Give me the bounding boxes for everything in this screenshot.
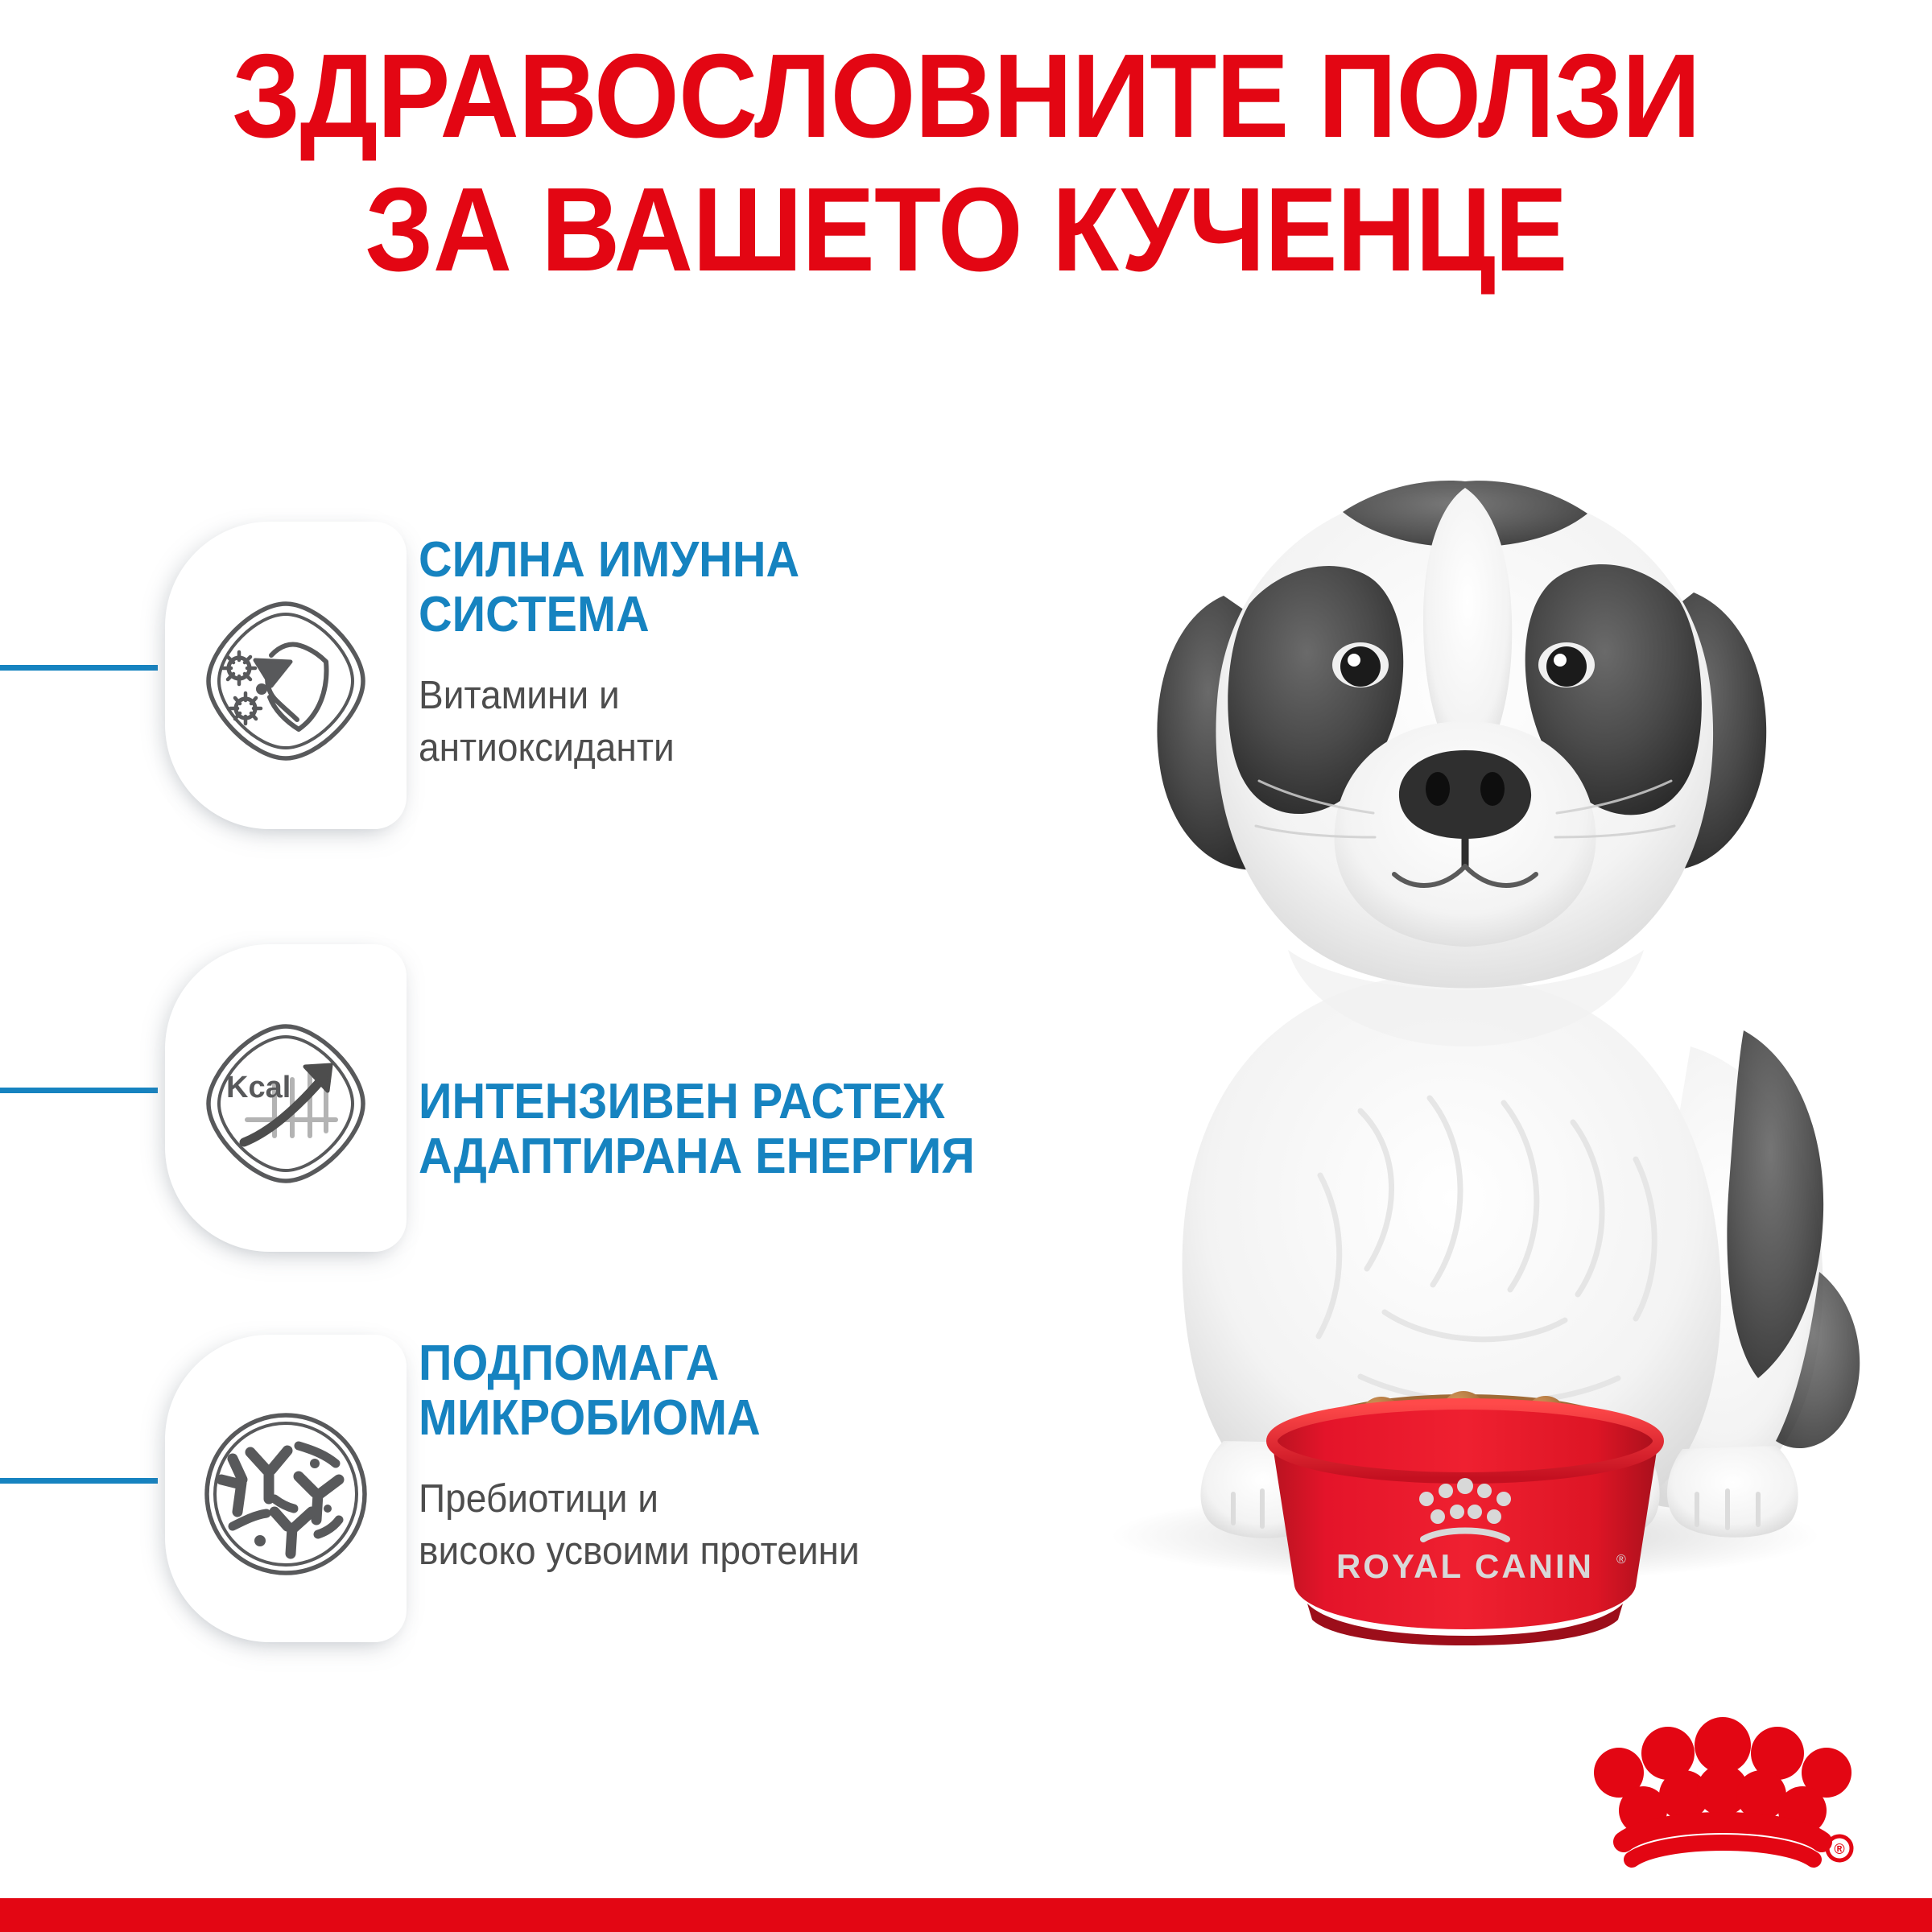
kcal-icon-label: Kcal bbox=[226, 1071, 291, 1104]
icon-card-2: Kcal bbox=[165, 944, 407, 1252]
immune-shield-icon bbox=[197, 592, 374, 770]
connector-line-2 bbox=[0, 1088, 158, 1093]
benefit-item-energy: Kcal ИНТЕНЗИВЕН РАСТЕЖ АДАПТИРАНА ЕНЕРГИ… bbox=[0, 938, 1127, 1260]
puppy-photo: ROYAL CANIN ® bbox=[982, 435, 1932, 1690]
connector-line-1 bbox=[0, 665, 158, 671]
benefit-title-1: СИЛНА ИМУННА СИСТЕМА bbox=[419, 533, 1063, 642]
bottom-red-bar bbox=[0, 1898, 1932, 1932]
bowl-brand-label: ROYAL CANIN bbox=[1336, 1547, 1594, 1585]
microbiome-bacteria-icon bbox=[197, 1406, 374, 1583]
benefit-subtitle-3: Пребиотици и високо усвоими протеини bbox=[419, 1473, 1069, 1577]
benefits-list: СИЛНА ИМУННА СИСТЕМА Витамини и антиокси… bbox=[0, 0, 1127, 1932]
benefit-subtitle-1: Витамини и антиоксиданти bbox=[419, 670, 1069, 774]
kcal-growth-chart-icon: Kcal bbox=[197, 1015, 374, 1192]
benefit-title-2: ИНТЕНЗИВЕН РАСТЕЖ АДАПТИРАНА ЕНЕРГИЯ bbox=[419, 1075, 1063, 1184]
bowl-registered-mark: ® bbox=[1616, 1553, 1626, 1567]
connector-line-3 bbox=[0, 1478, 158, 1484]
registered-mark-glyph: ® bbox=[1834, 1841, 1844, 1857]
benefit-item-microbiome: ПОДПОМАГА МИКРОБИОМА Пребиотици и високо… bbox=[0, 1328, 1127, 1650]
poster-canvas: ЗДРАВОСЛОВНИТЕ ПОЛЗИ ЗА ВАШЕТО КУЧЕНЦЕ bbox=[0, 0, 1932, 1932]
icon-card-3 bbox=[165, 1335, 407, 1642]
benefit-title-3: ПОДПОМАГА МИКРОБИОМА bbox=[419, 1336, 1063, 1446]
icon-card-1 bbox=[165, 522, 407, 829]
benefit-item-immune: СИЛНА ИМУННА СИСТЕМА Витамини и антиокси… bbox=[0, 515, 1127, 837]
royal-canin-crown-logo: ® bbox=[1590, 1699, 1856, 1872]
